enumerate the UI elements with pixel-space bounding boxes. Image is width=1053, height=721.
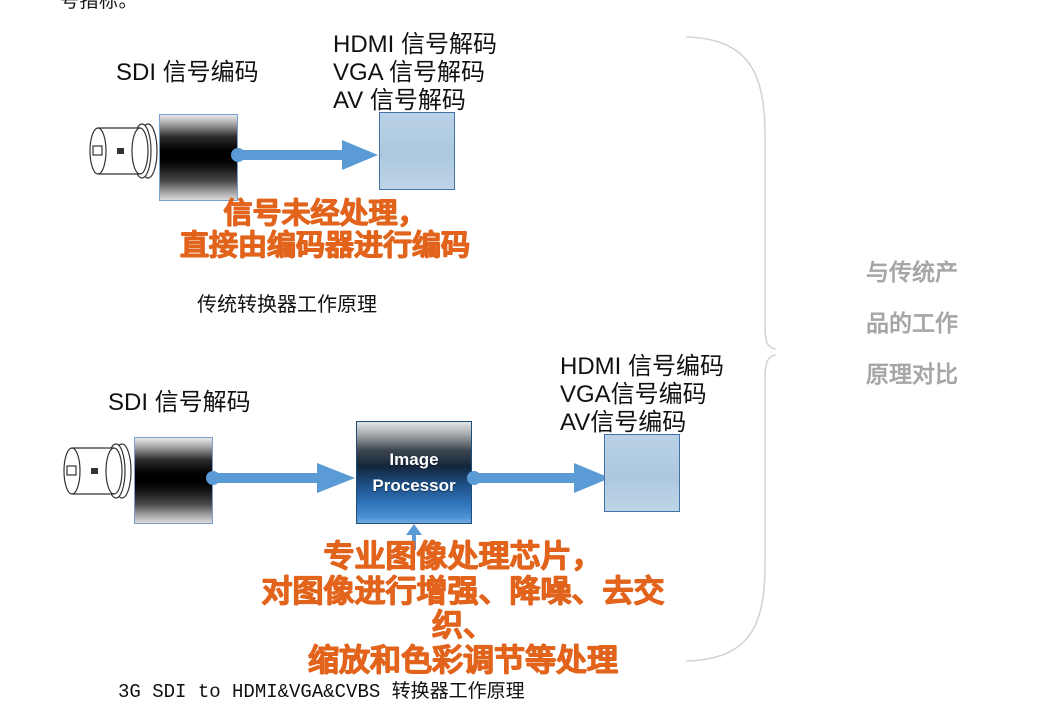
traditional-encoder-block — [159, 114, 238, 201]
traditional-emphasis-text: 信号未经处理， 直接由编码器进行编码 — [155, 198, 495, 263]
traditional-flow-arrow — [230, 133, 382, 177]
product-input-arrow — [205, 456, 357, 500]
bnc-connector-icon — [78, 120, 160, 182]
traditional-output-block — [379, 112, 455, 190]
traditional-output-label: HDMI 信号解码 VGA 信号解码 AV 信号解码 — [333, 31, 497, 115]
product-emphasis-text: 专业图像处理芯片， 对图像进行增强、降噪、去交织、 缩放和色彩调节等处理 — [248, 540, 678, 679]
curly-brace-icon — [655, 25, 795, 665]
processor-label-line2: Processor — [372, 473, 455, 499]
slide-canvas: 号指标。 SDI 信号编码 HDMI 信号解码 VGA 信号解码 AV 信号解码… — [0, 0, 1053, 721]
product-caption: 3G SDI to HDMI&VGA&CVBS 转换器工作原理 — [118, 676, 525, 703]
product-input-label: SDI 信号解码 — [108, 389, 251, 417]
image-processor-block: Image Processor — [356, 421, 472, 524]
clipped-top-text: 号指标。 — [60, 0, 138, 13]
traditional-input-label: SDI 信号编码 — [116, 59, 259, 87]
product-decoder-block — [134, 437, 213, 524]
product-output-arrow — [466, 456, 618, 500]
traditional-caption: 传统转换器工作原理 — [197, 288, 377, 317]
processor-label-line1: Image — [389, 447, 438, 473]
bnc-connector-icon — [52, 440, 134, 502]
comparison-note: 与传统产 品的工作 原理对比 — [866, 247, 1036, 400]
